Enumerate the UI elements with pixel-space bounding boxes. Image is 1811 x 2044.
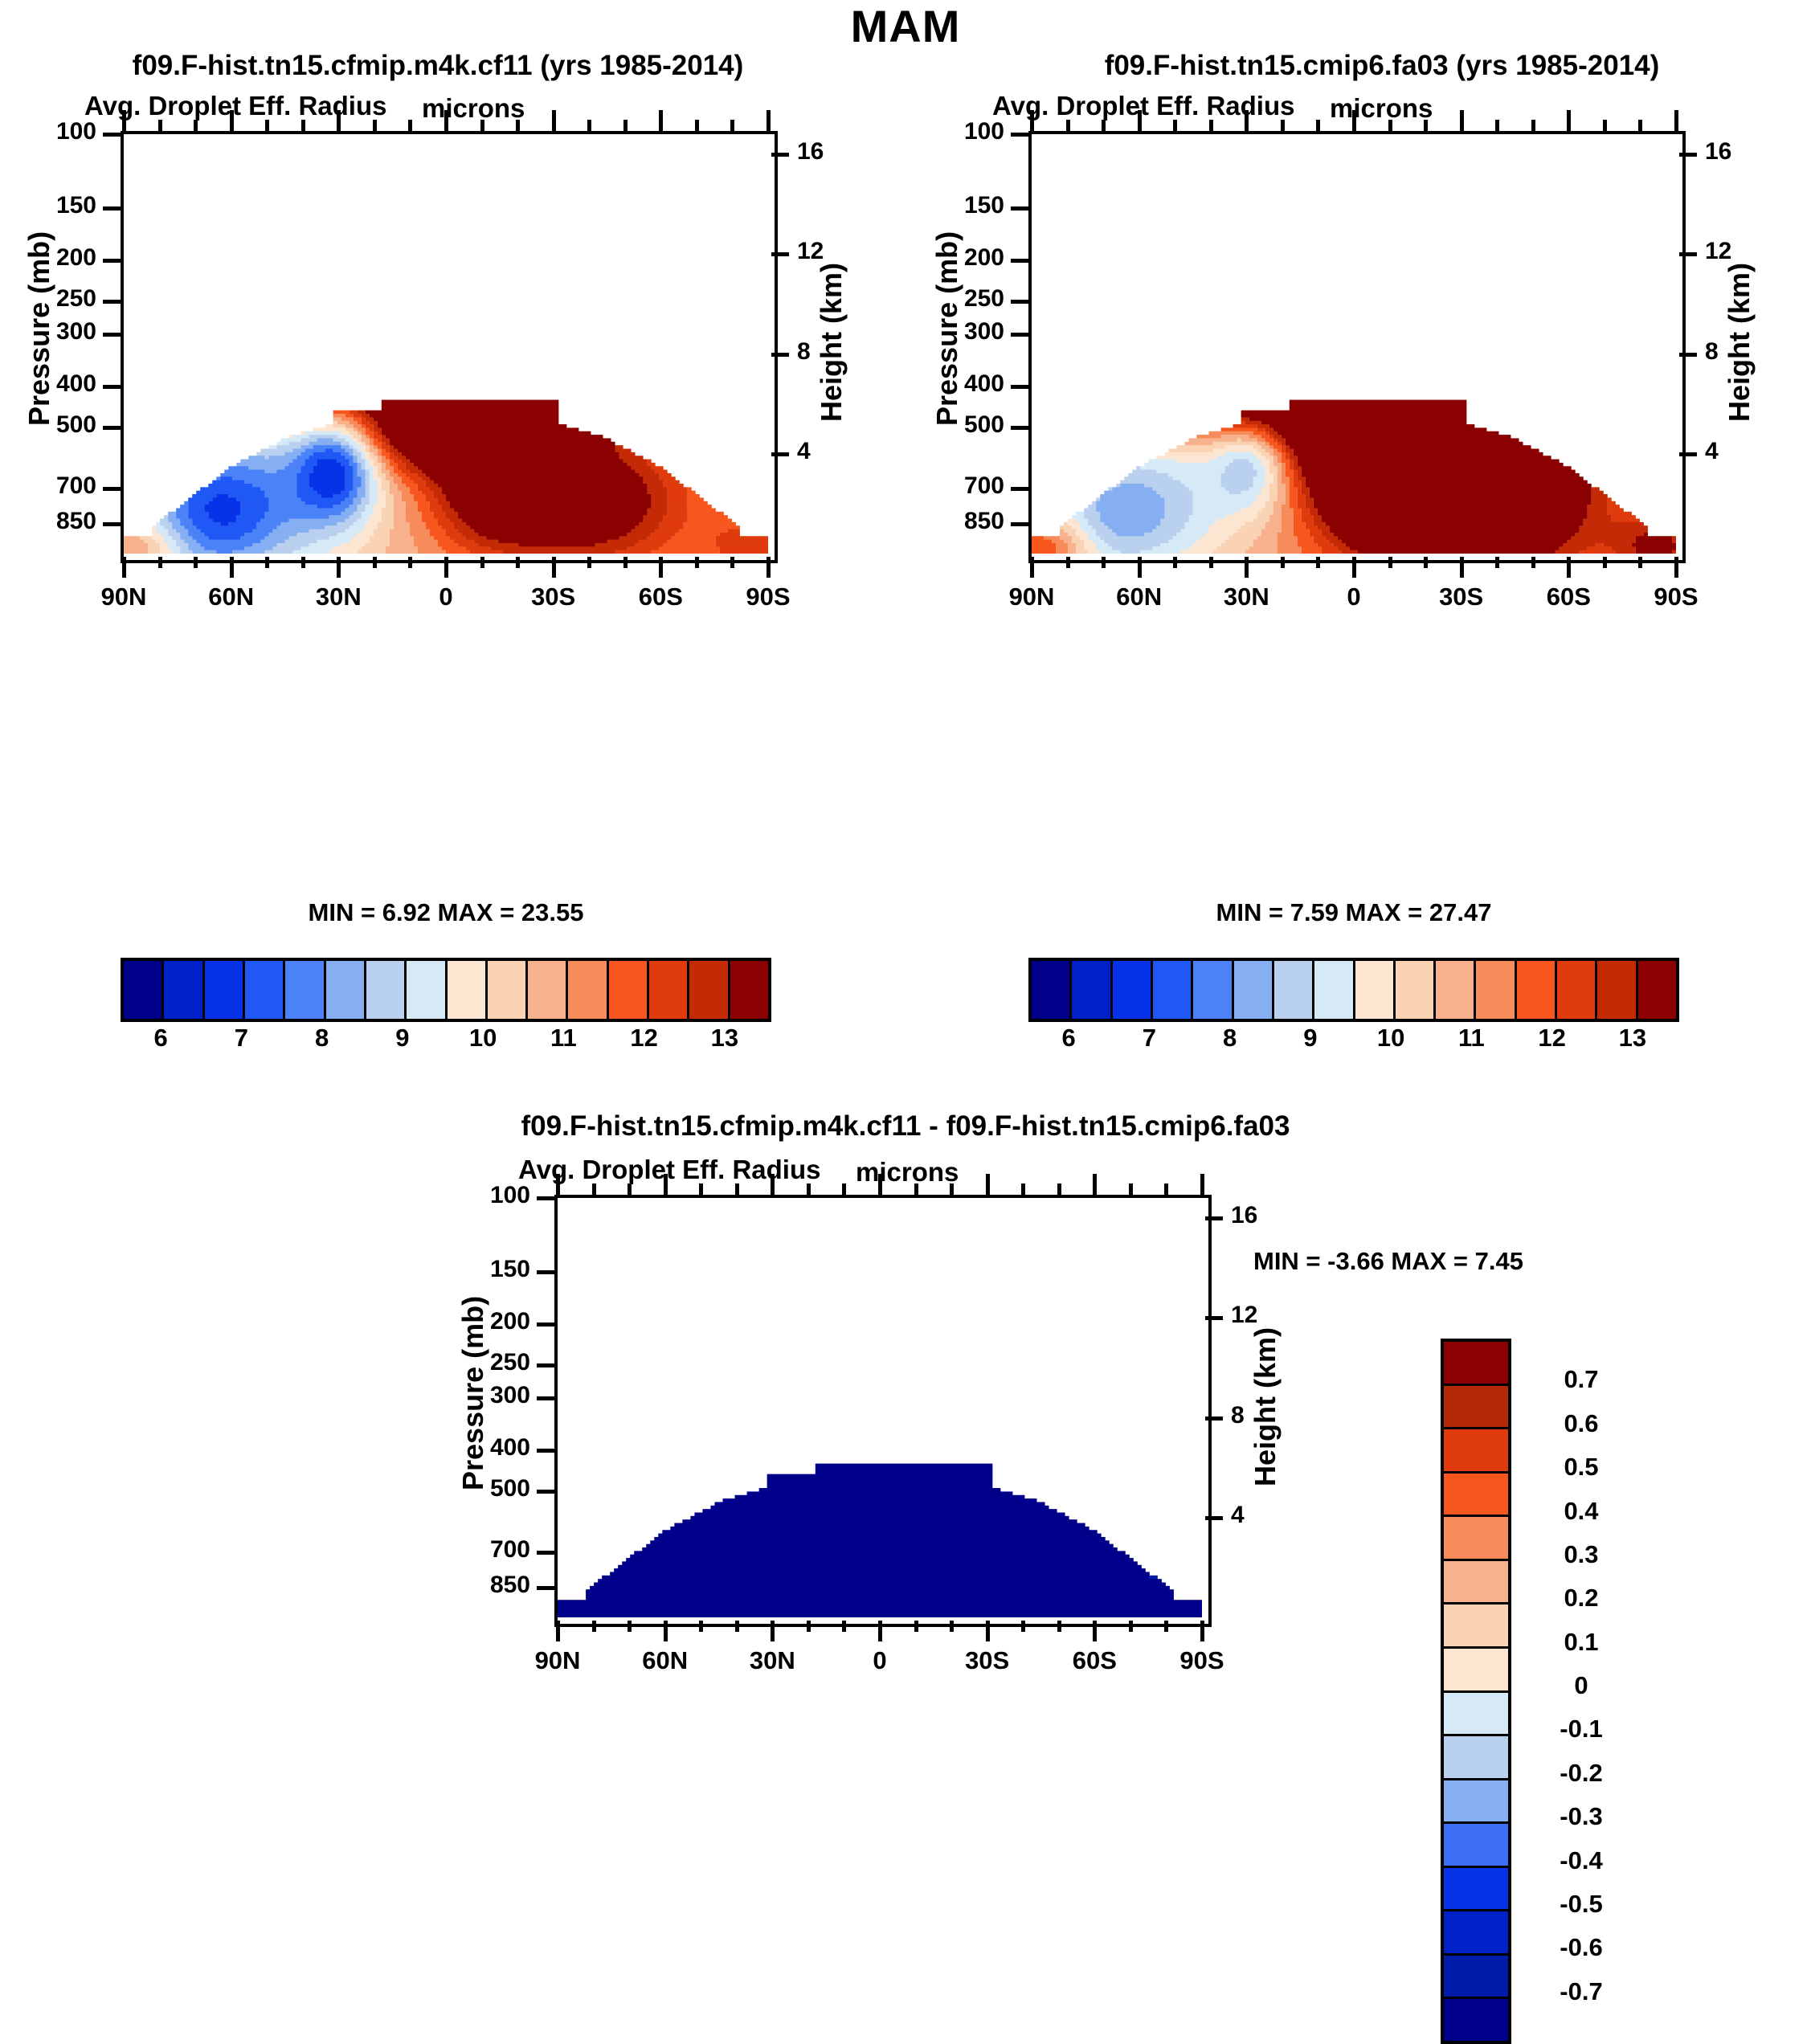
x-minor-tick (408, 557, 412, 568)
y-tick-label: 850 (8, 508, 96, 535)
colorbar-cell (568, 961, 608, 1019)
x-minor-tick (301, 557, 305, 568)
x-tick-label: 30N (282, 583, 394, 611)
x-minor-tick (265, 557, 269, 568)
colorbar-cell (1444, 1474, 1508, 1518)
colorbar-cell (1444, 1868, 1508, 1912)
x-minor-tick (587, 120, 591, 131)
y-tick (537, 1490, 554, 1494)
x-tick-label: 90S (1146, 1646, 1258, 1675)
x-tick (1093, 1621, 1097, 1641)
contour-field-right (1032, 134, 1676, 554)
colorbar-tick-label: 0.5 (1521, 1453, 1641, 1482)
x-minor-tick (1209, 557, 1213, 568)
panel-variable-title-diff: Avg. Droplet Eff. Radius (518, 1155, 820, 1185)
panel-variable-title-right: Avg. Droplet Eff. Radius (992, 91, 1294, 121)
colorbar-cell (1444, 1605, 1508, 1649)
x-tick (552, 110, 556, 131)
x-minor-tick (1495, 557, 1499, 568)
x-tick-label: 90S (712, 583, 824, 611)
y-tick-label: 400 (916, 370, 1004, 398)
y2-tick-label: 12 (797, 238, 861, 265)
colorbar-cell (1113, 961, 1153, 1019)
colorbar-cell (1436, 961, 1476, 1019)
x-tick (1460, 557, 1464, 578)
contour-field-diff (558, 1198, 1202, 1617)
y-tick (537, 1396, 554, 1400)
colorbar-tick-label: -0.3 (1521, 1802, 1641, 1831)
x-tick-label: 0 (390, 583, 502, 611)
colorbar-cell (1355, 961, 1396, 1019)
x-minor-tick (628, 1621, 632, 1632)
y-tick (1011, 426, 1028, 430)
x-minor-tick (1316, 557, 1320, 568)
colorbar-tick-label: 0.2 (1521, 1584, 1641, 1613)
x-minor-tick (735, 1183, 739, 1195)
colorbar-cell (124, 961, 164, 1019)
x-minor-tick (158, 120, 162, 131)
x-minor-tick (1164, 1183, 1168, 1195)
y-tick (537, 1586, 554, 1590)
colorbar-cell (1597, 961, 1637, 1019)
y-tick-label: 300 (916, 318, 1004, 345)
y-tick (103, 259, 121, 263)
x-minor-tick (699, 1183, 703, 1195)
colorbar-cell (1444, 1386, 1508, 1430)
y-tick-label: 250 (8, 285, 96, 313)
y-tick-label: 250 (916, 285, 1004, 313)
x-minor-tick (587, 557, 591, 568)
colorbar-cell (205, 961, 245, 1019)
x-minor-tick (735, 1621, 739, 1632)
x-tick-label: 60S (604, 583, 717, 611)
x-tick-label: 90S (1620, 583, 1732, 611)
x-minor-tick (730, 120, 734, 131)
y-tick-label: 400 (8, 370, 96, 398)
y-tick-label: 300 (442, 1382, 530, 1409)
y2-tick (1679, 252, 1697, 256)
y-tick (537, 1449, 554, 1453)
x-minor-tick (914, 1183, 918, 1195)
x-tick (1245, 110, 1249, 131)
x-tick-label: 30S (1405, 583, 1518, 611)
x-tick-label: 30S (497, 583, 610, 611)
y2-tick-label: 8 (1231, 1402, 1295, 1429)
y-tick-label: 150 (442, 1256, 530, 1283)
panel-title-diff: f09.F-hist.tn15.cfmip.m4k.cf11 - f09.F-h… (263, 1110, 1548, 1143)
colorbar-tick-label: -0.6 (1521, 1933, 1641, 1962)
x-minor-tick (1129, 1621, 1133, 1632)
y2-tick-label: 16 (1231, 1202, 1295, 1229)
y-tick-label: 100 (442, 1182, 530, 1209)
x-tick (986, 1174, 990, 1195)
y-tick (1011, 333, 1028, 337)
x-tick-label: 90N (67, 583, 180, 611)
x-minor-tick (408, 120, 412, 131)
y-tick-label: 150 (8, 192, 96, 219)
y2-tick-label: 8 (797, 338, 861, 366)
y-tick (103, 426, 121, 430)
x-minor-tick (1129, 1183, 1133, 1195)
colorbar-cell (528, 961, 568, 1019)
x-tick (1138, 557, 1142, 578)
y2-tick (1205, 1416, 1223, 1421)
x-minor-tick (1603, 557, 1607, 568)
x-minor-tick (1021, 1621, 1025, 1632)
x-minor-tick (628, 1183, 632, 1195)
colorbar-cell (1444, 1649, 1508, 1693)
x-minor-tick (1164, 1621, 1168, 1632)
x-minor-tick (373, 120, 377, 131)
y2-tick (771, 452, 789, 456)
x-tick (337, 557, 341, 578)
x-minor-tick (730, 557, 734, 568)
x-minor-tick (1066, 557, 1070, 568)
colorbar-tick-label: -0.2 (1521, 1759, 1641, 1788)
x-tick (230, 110, 234, 131)
x-tick (1352, 110, 1356, 131)
x-tick (1460, 110, 1464, 131)
y-tick (103, 300, 121, 304)
x-minor-tick (516, 557, 520, 568)
x-minor-tick (516, 120, 520, 131)
x-tick (664, 1174, 668, 1195)
x-tick (1567, 110, 1571, 131)
x-minor-tick (695, 120, 699, 131)
y-tick (1011, 522, 1028, 526)
colorbar-tick-label: 0 (1521, 1671, 1641, 1700)
x-minor-tick (480, 557, 484, 568)
x-minor-tick (1603, 120, 1607, 131)
colorbar-cell (649, 961, 689, 1019)
y-tick (103, 487, 121, 491)
y-tick (1011, 259, 1028, 263)
x-tick (337, 110, 341, 131)
plot-area-diff[interactable] (554, 1195, 1212, 1627)
x-tick (230, 557, 234, 578)
colorbar-cell (1638, 961, 1676, 1019)
x-minor-tick (194, 557, 198, 568)
x-minor-tick (301, 120, 305, 131)
colorbar-cell (730, 961, 768, 1019)
x-tick (659, 557, 663, 578)
y-tick (537, 1322, 554, 1327)
y2-tick-label: 16 (797, 138, 861, 166)
x-minor-tick (807, 1183, 811, 1195)
colorbar-cell (1193, 961, 1233, 1019)
y-tick-label: 700 (442, 1536, 530, 1564)
y2-tick (1679, 452, 1697, 456)
colorbar-tick-label: 0.6 (1521, 1409, 1641, 1438)
panel-variable-title-left: Avg. Droplet Eff. Radius (84, 91, 386, 121)
y-tick-label: 300 (8, 318, 96, 345)
colorbar-tick-label: 0.1 (1521, 1628, 1641, 1657)
panel-title-left: f09.F-hist.tn15.cfmip.m4k.cf11 (yrs 1985… (32, 50, 844, 82)
x-minor-tick (807, 1621, 811, 1632)
x-minor-tick (1424, 557, 1428, 568)
x-minor-tick (950, 1183, 954, 1195)
x-tick-label: 60N (609, 1646, 722, 1675)
x-minor-tick (1388, 557, 1392, 568)
x-minor-tick (194, 120, 198, 131)
colorbar-cell (1444, 1956, 1508, 2000)
x-minor-tick (1057, 1183, 1061, 1195)
colorbar-cell (1153, 961, 1193, 1019)
colorbar-tick-label: -0.5 (1521, 1890, 1641, 1919)
x-minor-tick (1388, 120, 1392, 131)
y-tick (103, 333, 121, 337)
y-tick-label: 200 (8, 244, 96, 272)
colorbar-cell (1274, 961, 1314, 1019)
x-tick-label: 60N (1083, 583, 1196, 611)
colorbar-cell (1444, 1517, 1508, 1561)
x-tick-label: 30S (931, 1646, 1044, 1675)
x-tick (1030, 557, 1034, 578)
x-tick-label: 30N (716, 1646, 828, 1675)
x-tick-label: 30N (1190, 583, 1302, 611)
panel-units-diff: microns (856, 1157, 959, 1188)
colorbar-cell (1444, 1824, 1508, 1868)
y2-tick-label: 4 (797, 438, 861, 465)
x-minor-tick (1021, 1183, 1025, 1195)
x-tick (122, 557, 126, 578)
plot-area-right[interactable] (1028, 131, 1686, 563)
y2-tick-label: 4 (1231, 1502, 1295, 1529)
y2-tick-label: 8 (1705, 338, 1769, 366)
y-tick-label: 100 (8, 118, 96, 145)
x-tick (659, 110, 663, 131)
colorbar-cell (1444, 1736, 1508, 1780)
x-minor-tick (1173, 557, 1177, 568)
x-minor-tick (699, 1621, 703, 1632)
x-tick (1030, 110, 1034, 131)
x-minor-tick (373, 557, 377, 568)
colorbar-cell (366, 961, 407, 1019)
minmax-diff: MIN = -3.66 MAX = 7.45 (1253, 1247, 1752, 1276)
x-tick (986, 1621, 990, 1641)
colorbar-cell (164, 961, 204, 1019)
y-tick-label: 700 (916, 472, 1004, 500)
y2-tick (1205, 1316, 1223, 1320)
x-minor-tick (1495, 120, 1499, 131)
x-tick (1567, 557, 1571, 578)
x-tick (444, 110, 448, 131)
y-tick (537, 1196, 554, 1200)
colorbar-cell (285, 961, 325, 1019)
x-tick (1245, 557, 1249, 578)
x-tick (767, 557, 771, 578)
x-tick (1200, 1621, 1204, 1641)
y-tick (537, 1363, 554, 1367)
x-minor-tick (1281, 557, 1285, 568)
x-minor-tick (623, 120, 628, 131)
x-tick (878, 1174, 882, 1195)
y-tick (103, 385, 121, 389)
x-minor-tick (592, 1621, 596, 1632)
x-minor-tick (1102, 120, 1106, 131)
x-tick-label: 90N (975, 583, 1088, 611)
x-tick (1674, 557, 1678, 578)
x-tick-label: 60S (1512, 583, 1625, 611)
y2-tick-label: 16 (1705, 138, 1769, 166)
colorbar-cell (1444, 1561, 1508, 1605)
x-minor-tick (1057, 1621, 1061, 1632)
y2-tick (1205, 1516, 1223, 1520)
x-minor-tick (1638, 120, 1642, 131)
x-tick (1352, 557, 1356, 578)
x-minor-tick (1531, 557, 1535, 568)
colorbar-cell (1444, 1429, 1508, 1474)
x-tick (556, 1174, 560, 1195)
x-minor-tick (1531, 120, 1535, 131)
colorbar-cell (1396, 961, 1436, 1019)
y-tick (1011, 300, 1028, 304)
colorbar-cell (689, 961, 730, 1019)
x-minor-tick (623, 557, 628, 568)
y-tick (1011, 206, 1028, 211)
x-minor-tick (842, 1183, 846, 1195)
y-tick (103, 133, 121, 137)
y-tick (1011, 487, 1028, 491)
x-tick-label: 90N (501, 1646, 614, 1675)
x-minor-tick (1316, 120, 1320, 131)
x-tick-label: 0 (824, 1646, 936, 1675)
x-minor-tick (950, 1621, 954, 1632)
y2-tick-label: 12 (1705, 238, 1769, 265)
x-tick (1674, 110, 1678, 131)
colorbar-tick-label: 0.4 (1521, 1497, 1641, 1526)
colorbar-cell (1444, 1911, 1508, 1956)
y2-tick (771, 252, 789, 256)
y-tick-label: 850 (442, 1572, 530, 1599)
x-tick (122, 110, 126, 131)
x-tick (552, 557, 556, 578)
colorbar-cell (1314, 961, 1355, 1019)
colorbar-tick-label: -0.4 (1521, 1846, 1641, 1875)
y-tick (103, 206, 121, 211)
panel-units-right: microns (1330, 93, 1433, 124)
x-tick (878, 1621, 882, 1641)
colorbar-tick-label: -0.1 (1521, 1715, 1641, 1744)
x-minor-tick (914, 1621, 918, 1632)
y2-tick (1679, 153, 1697, 157)
x-minor-tick (1638, 557, 1642, 568)
x-minor-tick (265, 120, 269, 131)
x-minor-tick (158, 557, 162, 568)
x-minor-tick (592, 1183, 596, 1195)
x-minor-tick (842, 1621, 846, 1632)
plot-area-left[interactable] (121, 131, 778, 563)
x-tick-label: 60N (175, 583, 288, 611)
x-tick (771, 1621, 775, 1641)
colorbar-cell (1444, 1780, 1508, 1825)
colorbar-cell (245, 961, 285, 1019)
x-tick (556, 1621, 560, 1641)
y-tick-label: 700 (8, 472, 96, 500)
colorbar-cell (1557, 961, 1597, 1019)
colorbar-cell (1444, 1693, 1508, 1737)
y2-tick (1205, 1216, 1223, 1220)
y2-tick-label: 4 (1705, 438, 1769, 465)
y-tick-label: 250 (442, 1349, 530, 1376)
x-tick (664, 1621, 668, 1641)
colorbar-diff[interactable] (1441, 1339, 1511, 2044)
x-tick (1138, 110, 1142, 131)
x-minor-tick (1102, 557, 1106, 568)
colorbar-cell (1072, 961, 1112, 1019)
y-tick-label: 100 (916, 118, 1004, 145)
colorbar-cell (1444, 1999, 1508, 2041)
colorbar-cell (407, 961, 447, 1019)
x-minor-tick (1209, 120, 1213, 131)
x-tick (771, 1174, 775, 1195)
x-minor-tick (695, 557, 699, 568)
x-tick (1093, 1174, 1097, 1195)
y-tick (103, 522, 121, 526)
minmax-left: MIN = 6.92 MAX = 23.55 (121, 898, 771, 927)
y-tick-label: 200 (442, 1308, 530, 1335)
y-tick (537, 1551, 554, 1555)
colorbar-cell (1444, 1342, 1508, 1386)
y-tick (1011, 133, 1028, 137)
y2-tick-label: 12 (1231, 1302, 1295, 1329)
x-tick (767, 110, 771, 131)
y-tick-label: 200 (916, 244, 1004, 272)
y2-tick (771, 353, 789, 357)
colorbar-right[interactable] (1028, 958, 1679, 1022)
colorbar-tick-label: 0.3 (1521, 1540, 1641, 1569)
y-tick-label: 150 (916, 192, 1004, 219)
colorbar-cell (448, 961, 488, 1019)
x-minor-tick (1066, 120, 1070, 131)
colorbar-cell (609, 961, 649, 1019)
x-tick (444, 557, 448, 578)
colorbar-cell (488, 961, 528, 1019)
minmax-right: MIN = 7.59 MAX = 27.47 (1028, 898, 1679, 927)
x-minor-tick (1424, 120, 1428, 131)
panel-title-right: f09.F-hist.tn15.cmip6.fa03 (yrs 1985-201… (976, 50, 1788, 82)
contour-field-left (124, 134, 768, 554)
colorbar-tick-label: 13 (1584, 1024, 1681, 1053)
x-tick-label: 0 (1298, 583, 1410, 611)
colorbar-tick-label: -0.7 (1521, 1977, 1641, 2006)
page-title: MAM (0, 0, 1811, 52)
y-tick-label: 500 (916, 411, 1004, 439)
panel-units-left: microns (422, 93, 525, 124)
y-tick-label: 400 (442, 1434, 530, 1461)
colorbar-cell (1476, 961, 1516, 1019)
y-tick-label: 500 (8, 411, 96, 439)
x-minor-tick (1281, 120, 1285, 131)
y2-tick (771, 153, 789, 157)
colorbar-tick-label: 13 (677, 1024, 773, 1053)
colorbar-tick-label: 0.7 (1521, 1365, 1641, 1394)
colorbar-cell (1234, 961, 1274, 1019)
colorbar-left[interactable] (121, 958, 771, 1022)
x-tick (1200, 1174, 1204, 1195)
y2-tick (1679, 353, 1697, 357)
y-tick-label: 850 (916, 508, 1004, 535)
colorbar-cell (1032, 961, 1072, 1019)
y-tick-label: 500 (442, 1475, 530, 1502)
x-minor-tick (1173, 120, 1177, 131)
y-tick (1011, 385, 1028, 389)
colorbar-cell (326, 961, 366, 1019)
x-tick-label: 60S (1038, 1646, 1151, 1675)
y-tick (537, 1270, 554, 1274)
colorbar-cell (1517, 961, 1557, 1019)
x-minor-tick (480, 120, 484, 131)
